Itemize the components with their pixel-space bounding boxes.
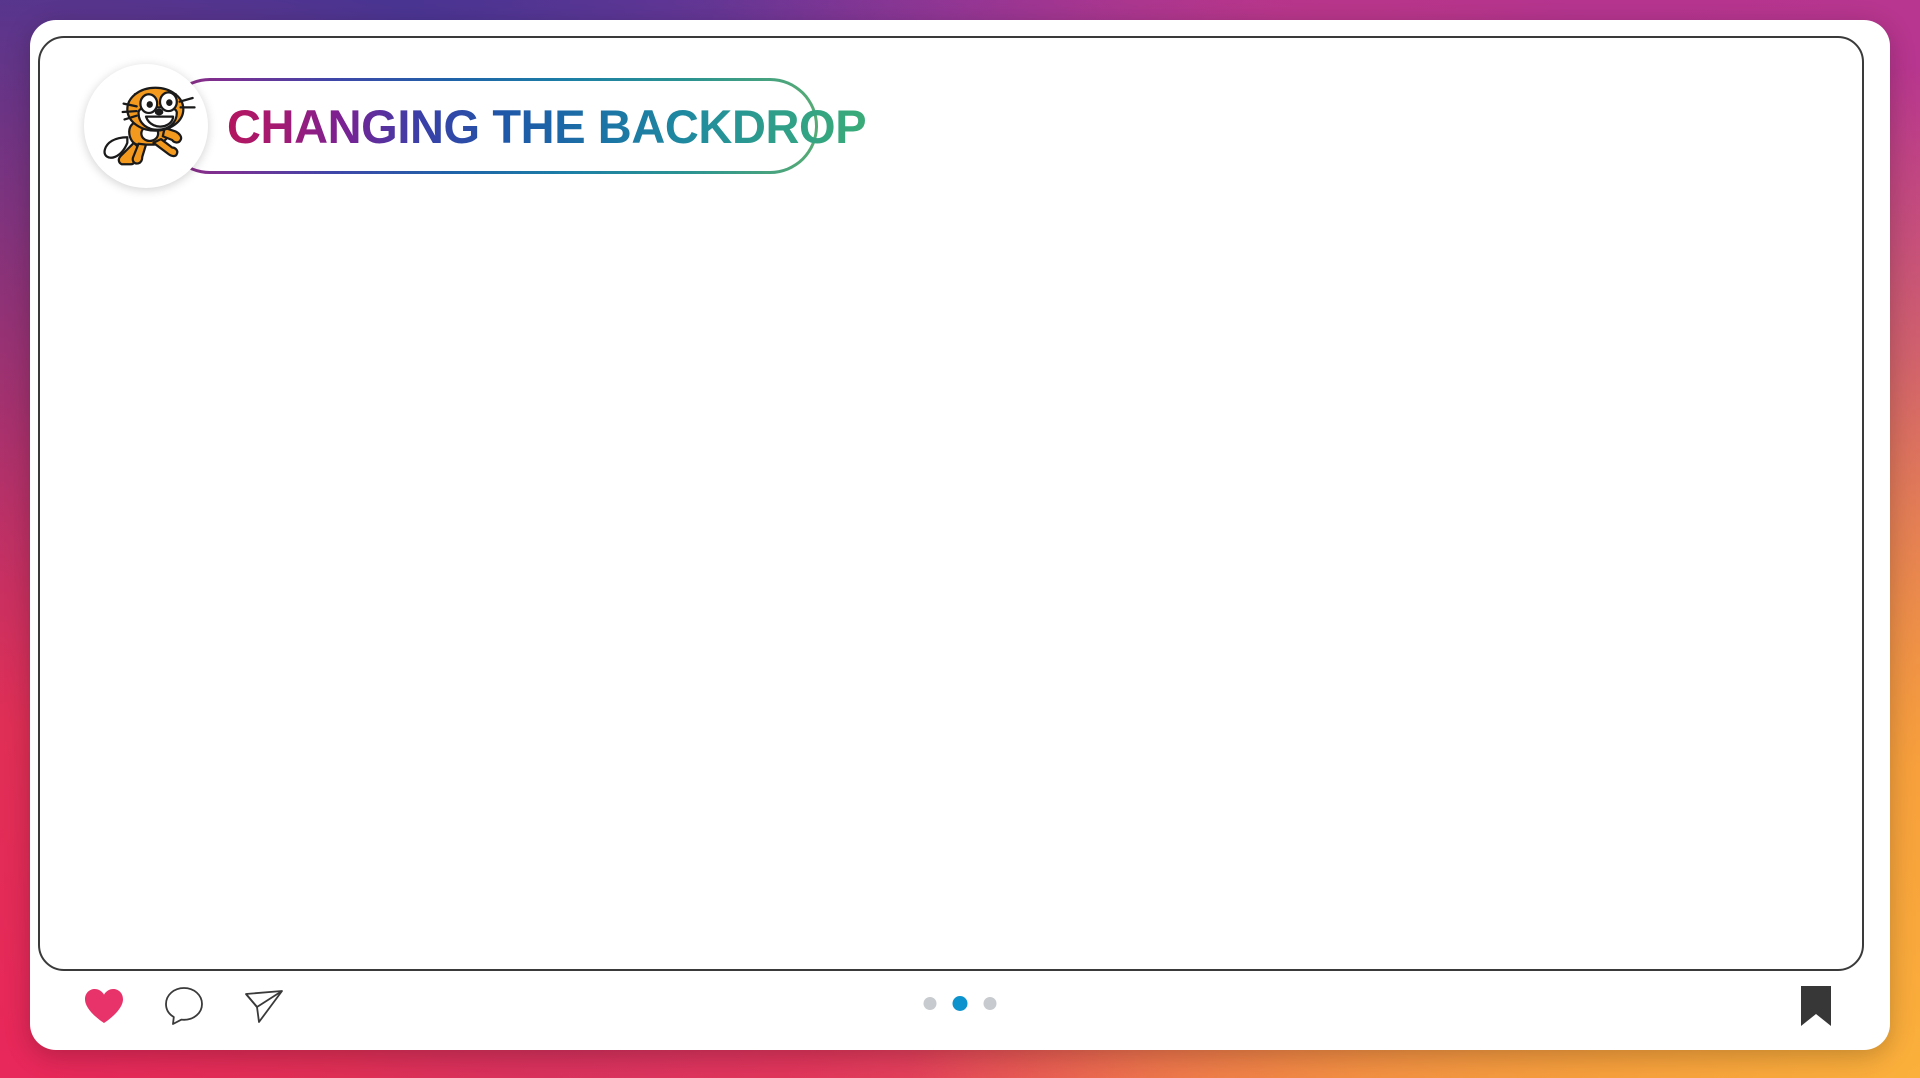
pagination-dot-1[interactable] xyxy=(924,997,937,1010)
save-button[interactable] xyxy=(1790,980,1842,1032)
slide-background: CHANGING THE BACKDROP xyxy=(0,0,1920,1078)
page-title: CHANGING THE BACKDROP xyxy=(227,99,866,154)
like-button[interactable] xyxy=(78,980,130,1032)
scratch-cat-logo xyxy=(84,64,208,188)
pagination-dots xyxy=(924,996,997,1011)
pagination-dot-2[interactable] xyxy=(953,996,968,1011)
send-paper-plane-icon xyxy=(242,985,286,1027)
slide-title-pill-inner: CHANGING THE BACKDROP xyxy=(165,81,815,171)
comment-bubble-icon xyxy=(163,985,205,1027)
scratch-cat-icon xyxy=(90,70,202,182)
comment-button[interactable] xyxy=(158,980,210,1032)
heart-icon xyxy=(83,987,125,1025)
pagination-dot-3[interactable] xyxy=(984,997,997,1010)
slide-content-frame xyxy=(38,36,1864,971)
post-card: CHANGING THE BACKDROP xyxy=(30,20,1890,1050)
slide-body xyxy=(100,218,1802,869)
bookmark-icon xyxy=(1798,984,1834,1028)
action-bar-left-group xyxy=(78,980,290,1032)
share-button[interactable] xyxy=(238,980,290,1032)
action-bar xyxy=(30,972,1890,1050)
slide-title-pill: CHANGING THE BACKDROP xyxy=(162,78,818,174)
